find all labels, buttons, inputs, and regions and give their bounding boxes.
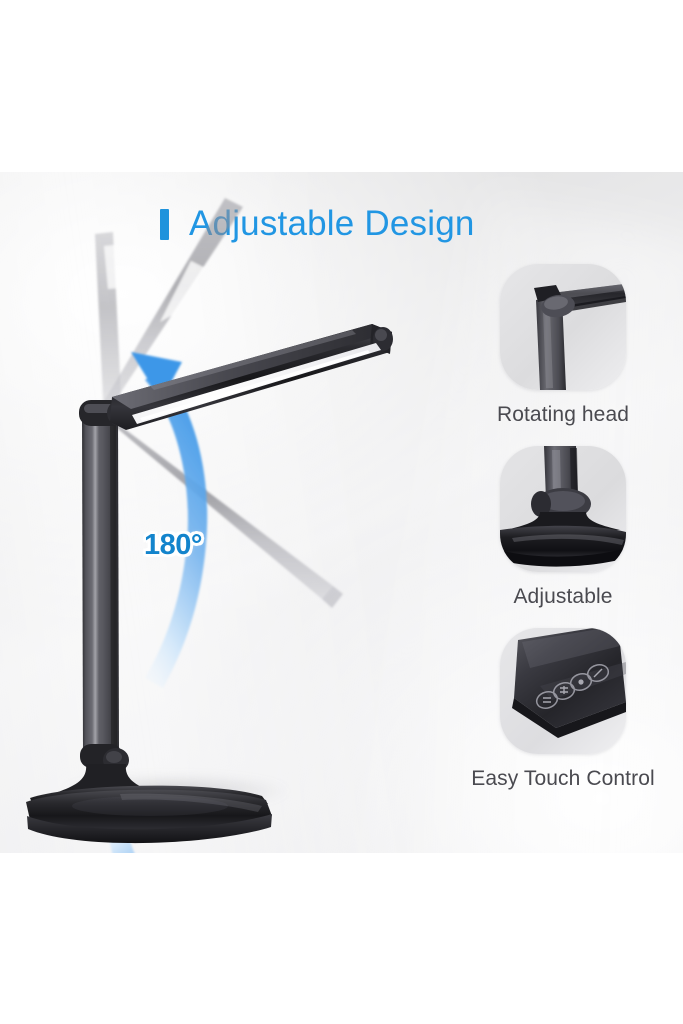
feature-touch-control: Easy Touch Control [443,628,683,791]
feature-list: Rotating head [443,264,683,810]
feature-adjustable: Adjustable [443,446,683,609]
feature-label: Easy Touch Control [443,767,683,791]
lamp-head-joint-icon [500,264,626,390]
lamp-vertical-arm [82,410,119,757]
feature-label: Rotating head [443,403,683,427]
touch-panel-icon [500,628,626,754]
infographic-panel: Adjustable Design [0,172,683,853]
desk-lamp-illustration [0,172,440,853]
feature-rotating-head: Rotating head [443,264,683,427]
lamp-base-joint-icon [500,446,626,572]
angle-label-180: 180° [144,529,202,562]
lamp-base [26,764,272,843]
feature-label: Adjustable [443,585,683,609]
